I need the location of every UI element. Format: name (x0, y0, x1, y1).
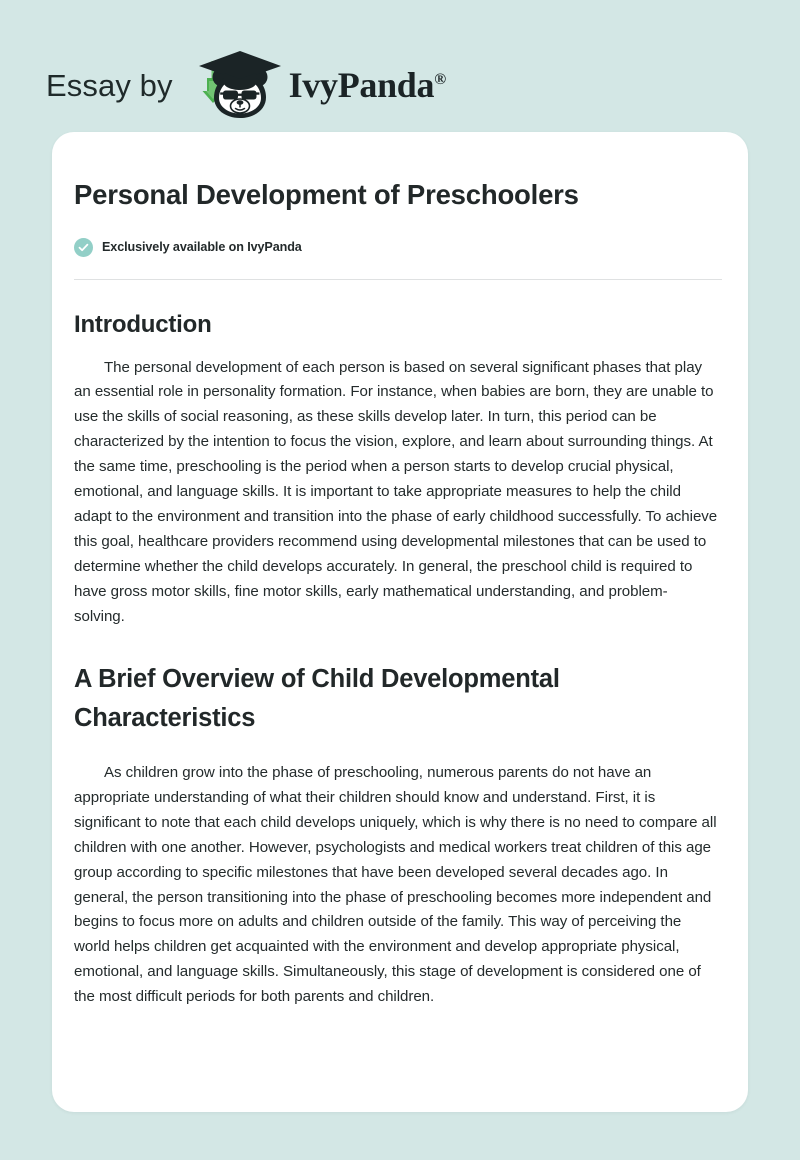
section-heading-overview: A Brief Overview of Child Developmental … (74, 660, 722, 740)
status-badge-label: Exclusively available on IvyPanda (102, 240, 302, 254)
wordmark-text: IvyPanda (289, 65, 435, 105)
page-title: Personal Development of Preschoolers (74, 178, 722, 212)
essay-paper-card: Personal Development of Preschoolers Exc… (52, 132, 748, 1112)
section-paragraph: The personal development of each person … (74, 356, 718, 630)
essay-by-label: Essay by (46, 70, 173, 101)
brand-header: Essay by (0, 0, 800, 132)
ivypanda-logo-group[interactable]: IvyPanda® (195, 51, 446, 119)
check-circle-icon (74, 238, 93, 257)
document-body: Personal Development of Preschoolers Exc… (74, 178, 722, 1010)
header-divider (74, 279, 722, 280)
status-badge: Exclusively available on IvyPanda (74, 238, 722, 257)
registered-trademark-symbol: ® (434, 71, 446, 88)
section-paragraph: As children grow into the phase of presc… (74, 761, 718, 1010)
ivypanda-panda-graduate-logo-icon (195, 51, 289, 119)
section-heading-introduction: Introduction (74, 310, 722, 340)
ivypanda-wordmark: IvyPanda® (289, 67, 446, 103)
